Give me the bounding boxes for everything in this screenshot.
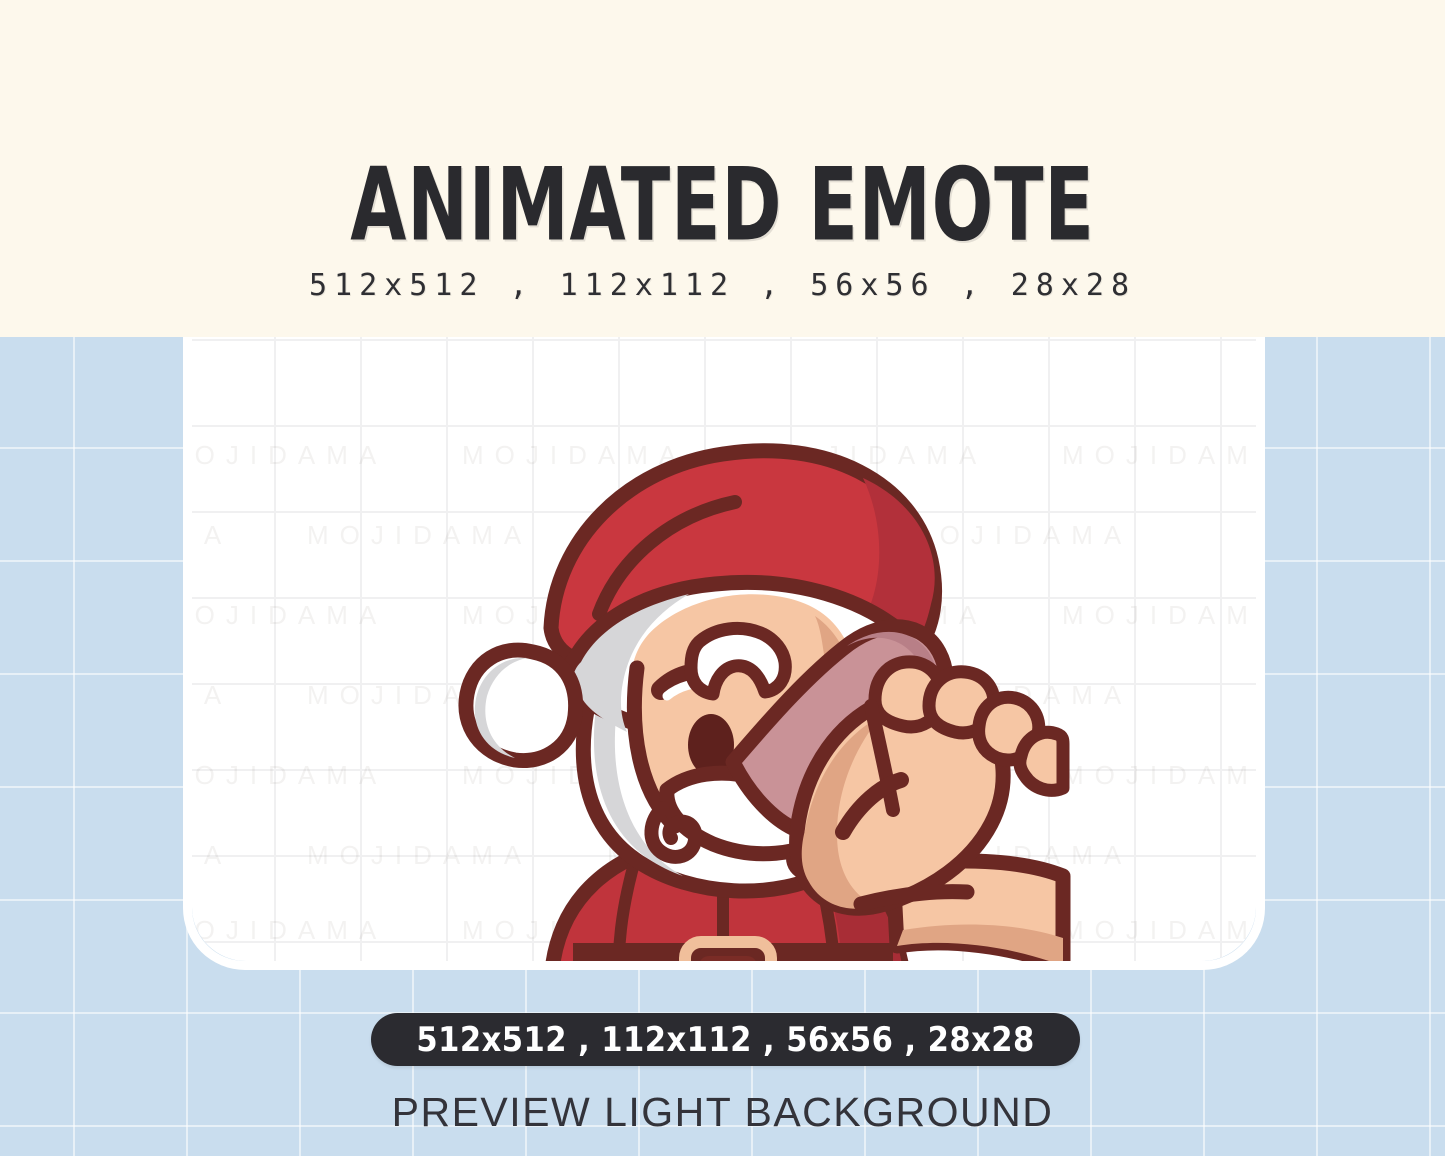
emote-listing-preview: ANIMATED EMOTE 512x512 , 112x112 , 56x56… — [0, 0, 1445, 1156]
preview-caption: PREVIEW LIGHT BACKGROUND — [0, 1089, 1445, 1136]
header-band: ANIMATED EMOTE 512x512 , 112x112 , 56x56… — [0, 0, 1445, 337]
size-badge: 512x512 , 112x112 , 56x56 , 28x28 — [371, 1013, 1080, 1066]
emote-artwork — [423, 390, 1063, 961]
header-sizes-line: 512x512 , 112x112 , 56x56 , 28x28 — [0, 268, 1445, 303]
preview-card: MOJIDAMA MOJIDAMA MOJIDAMA MOJIDAMA MOJI… — [183, 330, 1265, 970]
preview-card-surface: MOJIDAMA MOJIDAMA MOJIDAMA MOJIDAMA MOJI… — [192, 330, 1256, 961]
size-badge-label: 512x512 , 112x112 , 56x56 , 28x28 — [416, 1020, 1034, 1060]
page-title: ANIMATED EMOTE — [159, 152, 1286, 258]
